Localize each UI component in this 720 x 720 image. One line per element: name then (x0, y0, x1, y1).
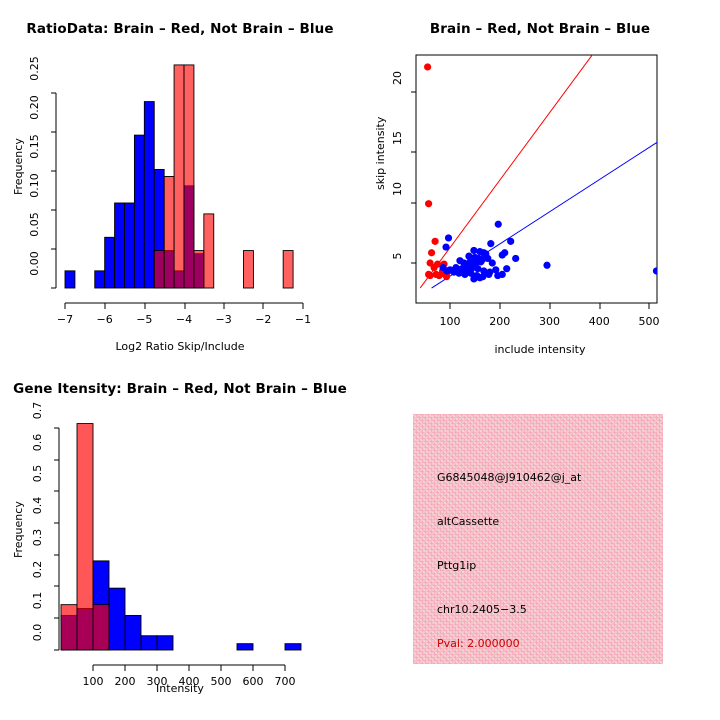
gene-hist-xtick: 100 (83, 675, 104, 688)
panel-gene-info: G6845048@J910462@j_at altCassette Pttg1i… (413, 414, 663, 664)
scatter-point (489, 259, 496, 266)
scatter-point (428, 249, 435, 256)
ratio-hist-ytick: 0.05 (28, 212, 41, 237)
gene-hist-plot (0, 360, 360, 720)
gene-hist-ytick: 0.0 (31, 624, 44, 642)
ratio-hist-bar (125, 203, 135, 288)
scatter-point (442, 243, 449, 250)
scatter-xtick: 200 (489, 315, 510, 328)
scatter-point (507, 238, 514, 245)
ratio-hist-bar (154, 251, 164, 288)
figure-canvas: RatioData: Brain – Red, Not Brain – Blue… (0, 0, 720, 720)
scatter-point (653, 267, 660, 274)
ratio-hist-bar (134, 135, 144, 288)
ratio-hist-bar (244, 251, 254, 288)
ratio-hist-bar (115, 203, 125, 288)
scatter-ytick: 20 (391, 71, 404, 85)
scatter-ytick: 15 (391, 131, 404, 145)
scatter-point (499, 251, 506, 258)
ratio-hist-xtick: −2 (255, 313, 271, 326)
scatter-xtick: 100 (440, 315, 461, 328)
scatter-point (432, 271, 439, 278)
gene-hist-bar (141, 636, 157, 650)
gene-hist-ytick: 0.5 (31, 465, 44, 483)
ratio-hist-bar (194, 251, 204, 288)
scatter-point (461, 271, 468, 278)
info-pval: Pval: 2.000000 (437, 637, 520, 650)
gene-hist-bar (285, 644, 301, 650)
scatter-point (499, 271, 506, 278)
scatter-point (543, 262, 550, 269)
gene-hist-xtick: 600 (243, 675, 264, 688)
scatter-ytick: 5 (391, 253, 404, 260)
scatter-point (445, 234, 452, 241)
scatter-point (424, 63, 431, 70)
gene-hist-xtick: 500 (211, 675, 232, 688)
scatter-point (470, 275, 477, 282)
scatter-point (512, 255, 519, 262)
ratio-hist-xtick: −7 (57, 313, 73, 326)
scatter-point (485, 271, 492, 278)
info-gene-symbol: Pttg1ip (437, 559, 476, 572)
ratio-hist-bar (174, 65, 184, 288)
gene-hist-bar (125, 615, 141, 650)
ratio-hist-bar (204, 214, 214, 288)
info-probe-id: G6845048@J910462@j_at (437, 471, 581, 484)
ratio-hist-ytick: 0.25 (28, 56, 41, 81)
ratio-hist-plot (0, 0, 360, 360)
scatter-point (425, 200, 432, 207)
gene-hist-bar (237, 644, 253, 650)
gene-hist-bar (93, 605, 109, 650)
gene-hist-bar (77, 424, 93, 650)
gene-hist-xtick: 400 (179, 675, 200, 688)
scatter-point (470, 247, 477, 254)
ratio-hist-bar (105, 237, 115, 288)
scatter-point (427, 272, 434, 279)
ratio-hist-xtick: −6 (97, 313, 113, 326)
ratio-hist-ytick: 0.00 (28, 251, 41, 276)
ratio-hist-bar (164, 176, 174, 288)
gene-hist-ytick: 0.2 (31, 560, 44, 578)
ratio-hist-ytick: 0.20 (28, 95, 41, 120)
scatter-point (464, 262, 471, 269)
gene-hist-ytick: 0.4 (31, 497, 44, 515)
gene-hist-xtick: 700 (275, 675, 296, 688)
scatter-point (477, 258, 484, 265)
ratio-hist-xtick: −1 (295, 313, 311, 326)
ratio-hist-ytick: 0.10 (28, 173, 41, 198)
gene-hist-ytick: 0.3 (31, 529, 44, 547)
ratio-hist-xtick: −5 (136, 313, 152, 326)
scatter-point (487, 240, 494, 247)
scatter-point (503, 265, 510, 272)
info-event-type: altCassette (437, 515, 499, 528)
gene-hist-ytick: 0.6 (31, 433, 44, 451)
gene-hist-bar (61, 605, 77, 650)
gene-hist-xtick: 300 (147, 675, 168, 688)
scatter-plot (360, 0, 720, 360)
scatter-point (495, 221, 502, 228)
panel-ratio-histogram: RatioData: Brain – Red, Not Brain – Blue… (0, 0, 360, 360)
scatter-xtick: 300 (539, 315, 560, 328)
gene-hist-ytick: 0.1 (31, 592, 44, 610)
ratio-hist-xtick: −4 (176, 313, 192, 326)
panel-gene-intensity-histogram: Gene Itensity: Brain – Red, Not Brain – … (0, 360, 360, 720)
panel-intensity-scatter: Brain – Red, Not Brain – Blue skip inten… (360, 0, 720, 360)
gene-hist-bar (109, 588, 125, 650)
scatter-xtick: 400 (589, 315, 610, 328)
scatter-xtick: 500 (639, 315, 660, 328)
scatter-ytick: 10 (391, 182, 404, 196)
scatter-point (443, 267, 450, 274)
ratio-hist-bar (184, 65, 194, 288)
info-locus: chr10.2405−3.5 (437, 603, 527, 616)
ratio-hist-bar (283, 251, 293, 288)
ratio-hist-ytick: 0.15 (28, 134, 41, 159)
scatter-point (476, 274, 483, 281)
ratio-hist-xtick: −3 (216, 313, 232, 326)
ratio-hist-bar (65, 271, 75, 288)
info-panel-texture-b (413, 414, 663, 664)
ratio-hist-bar (95, 271, 105, 288)
scatter-point (455, 270, 462, 277)
scatter-point (431, 238, 438, 245)
ratio-hist-bar (144, 102, 154, 288)
gene-hist-xtick: 200 (115, 675, 136, 688)
gene-hist-bar (157, 636, 173, 650)
gene-hist-ytick: 0.7 (31, 402, 44, 420)
scatter-point (430, 264, 437, 271)
